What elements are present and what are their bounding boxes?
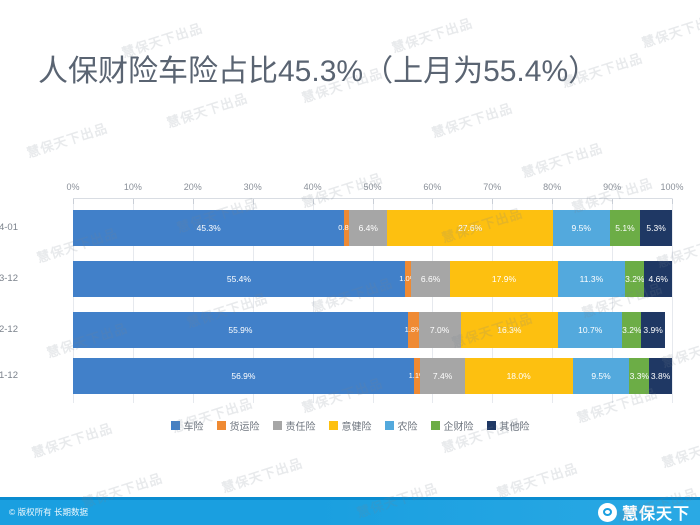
legend-swatch [329,421,338,430]
legend-label: 农险 [398,418,418,433]
bar-segment[interactable]: 4.6% [644,261,672,297]
bar-segment-label: 16.3% [497,326,521,335]
legend-item[interactable]: 企财险 [431,418,474,433]
weibo-icon [598,503,617,522]
legend-label: 其他险 [500,418,530,433]
copyright-text: © 版权所有 长期数据 [9,506,88,518]
x-axis-tick [253,199,254,204]
x-axis-tick [73,199,74,204]
x-axis-tick-label: 0% [66,182,79,192]
bar-segment-label: 45.3% [197,224,221,233]
bar-segment-label: 10.7% [578,326,602,335]
bar-segment[interactable]: 17.9% [450,261,557,297]
bar-segment-label: 11.3% [580,275,603,284]
legend-swatch [431,421,440,430]
watermark-text: 慧保天下出品 [164,87,250,131]
bar-segment[interactable]: 3.2% [625,261,644,297]
x-axis-tick [492,199,493,204]
bar-segment[interactable]: 6.4% [349,210,387,246]
bar-segment-label: 3.8% [651,372,670,381]
chart-screenshot: 人保财险车险占比45.3%（上月为55.4%） 0%10%20%30%40%50… [0,0,700,525]
bar-segment[interactable]: 5.1% [610,210,641,246]
legend-item[interactable]: 农险 [385,418,418,433]
x-axis-tick [552,199,553,204]
bar-segment-label: 9.5% [572,224,591,233]
bar-segment-label: 5.3% [646,224,665,233]
legend-label: 货运险 [230,418,260,433]
bar-segment[interactable]: 6.6% [411,261,451,297]
bar-segment[interactable]: 3.3% [629,358,649,394]
x-axis-tick [373,199,374,204]
x-axis-tick-label: 90% [603,182,621,192]
legend-swatch [273,421,282,430]
bar-row[interactable]: 55.9%1.8%7.0%16.3%10.7%3.2%3.9% [73,312,672,348]
watermark-text: 慧保天下出品 [659,427,700,471]
bar-segment-label: 6.6% [421,275,440,284]
bar-segment-label: 55.4% [227,275,251,284]
legend-item[interactable]: 意健险 [329,418,372,433]
bar-segment[interactable]: 9.5% [573,358,630,394]
bar-segment[interactable]: 16.3% [461,312,559,348]
watermark-text: 慧保天下出品 [219,452,305,496]
y-axis-category-label: 2021-12 [0,370,18,381]
footer-bar: © 版权所有 长期数据 慧保天下 [0,497,700,525]
bar-row[interactable]: 56.9%1.1%7.4%18.0%9.5%3.3%3.8% [73,358,672,394]
bar-segment[interactable]: 10.7% [558,312,622,348]
page-title: 人保财险车险占比45.3%（上月为55.4%） [38,46,598,90]
legend-item[interactable]: 其他险 [487,418,530,433]
watermark-text: 慧保天下出品 [494,457,580,501]
bar-segment-label: 3.9% [643,326,662,335]
bar-segment-label: 7.4% [433,372,452,381]
bar-segment-label: 27.6% [458,224,482,233]
bar-segment[interactable]: 9.5% [553,210,610,246]
legend-swatch [171,421,180,430]
watermark-text: 慧保天下出品 [639,7,700,51]
x-axis-tick-label: 50% [363,182,381,192]
footer-divider [0,497,700,500]
legend-item[interactable]: 货运险 [217,418,260,433]
bar-segment-label: 18.0% [507,372,531,381]
bar-segment[interactable]: 7.0% [419,312,461,348]
x-axis-tick [432,199,433,204]
y-axis-category-label: 2022-12 [0,324,18,335]
x-axis-tick-label: 100% [660,182,683,192]
bar-row[interactable]: 45.3%0.8%6.4%27.6%9.5%5.1%5.3% [73,210,672,246]
bar-segment[interactable]: 5.3% [640,210,672,246]
bar-segment[interactable]: 3.2% [622,312,641,348]
legend-item[interactable]: 车险 [171,418,204,433]
x-axis-tick-label: 40% [304,182,322,192]
x-axis-tick [193,199,194,204]
x-axis-tick [612,199,613,204]
bar-segment-label: 17.9% [492,275,516,284]
watermark-text: 慧保天下出品 [24,117,110,161]
bar-segment-label: 6.4% [359,224,378,233]
bar-segment-label: 3.2% [625,275,644,284]
bar-segment[interactable]: 55.4% [73,261,405,297]
bar-segment-label: 4.6% [649,275,668,284]
watermark-text: 慧保天下出品 [429,97,515,141]
bar-segment[interactable]: 3.8% [649,358,672,394]
bar-segment-label: 56.9% [231,372,255,381]
x-axis-tick-label: 60% [423,182,441,192]
x-axis-tick [133,199,134,204]
bar-segment[interactable]: 1.8% [408,312,419,348]
bar-segment[interactable]: 27.6% [387,210,552,246]
legend-swatch [385,421,394,430]
bar-segment[interactable]: 7.4% [420,358,464,394]
bar-segment-label: 5.1% [615,224,634,233]
legend-swatch [487,421,496,430]
bar-segment[interactable]: 55.9% [73,312,408,348]
bar-segment[interactable]: 11.3% [558,261,626,297]
bar-segment-label: 55.9% [228,326,252,335]
bar-segment[interactable]: 56.9% [73,358,414,394]
y-axis-category-label: 2024-01 [0,222,18,233]
bar-segment[interactable]: 45.3% [73,210,344,246]
brand-name: 慧保天下 [622,500,690,524]
legend-label: 车险 [184,418,204,433]
legend-swatch [217,421,226,430]
x-axis-tick [313,199,314,204]
bar-segment-label: 3.3% [630,372,649,381]
bar-segment[interactable]: 18.0% [465,358,573,394]
watermark-text: 慧保天下出品 [519,137,605,181]
x-axis-tick-label: 70% [483,182,501,192]
y-axis-category-label: 2023-12 [0,273,18,284]
legend-label: 意健险 [342,418,372,433]
x-axis-tick-label: 80% [543,182,561,192]
chart-legend: 车险货运险责任险意健险农险企财险其他险 [0,418,700,433]
legend-item[interactable]: 责任险 [273,418,316,433]
bar-segment-label: 9.5% [591,372,610,381]
x-axis-tick-label: 30% [244,182,262,192]
bar-segment-label: 3.2% [622,326,641,335]
x-axis-tick [672,199,673,204]
gridline [672,198,673,403]
stacked-bar-plot: 45.3%0.8%6.4%27.6%9.5%5.1%5.3%55.4%1.0%6… [73,198,672,403]
x-axis-tick-label: 20% [184,182,202,192]
bar-row[interactable]: 55.4%1.0%6.6%17.9%11.3%3.2%4.6% [73,261,672,297]
x-axis-tick-label: 10% [124,182,142,192]
bar-segment[interactable]: 3.9% [641,312,664,348]
bar-segment-label: 7.0% [430,326,449,335]
legend-label: 企财险 [444,418,474,433]
brand-logo: 慧保天下 [598,500,690,524]
bar-segment[interactable]: 1.1% [414,358,421,394]
legend-label: 责任险 [286,418,316,433]
